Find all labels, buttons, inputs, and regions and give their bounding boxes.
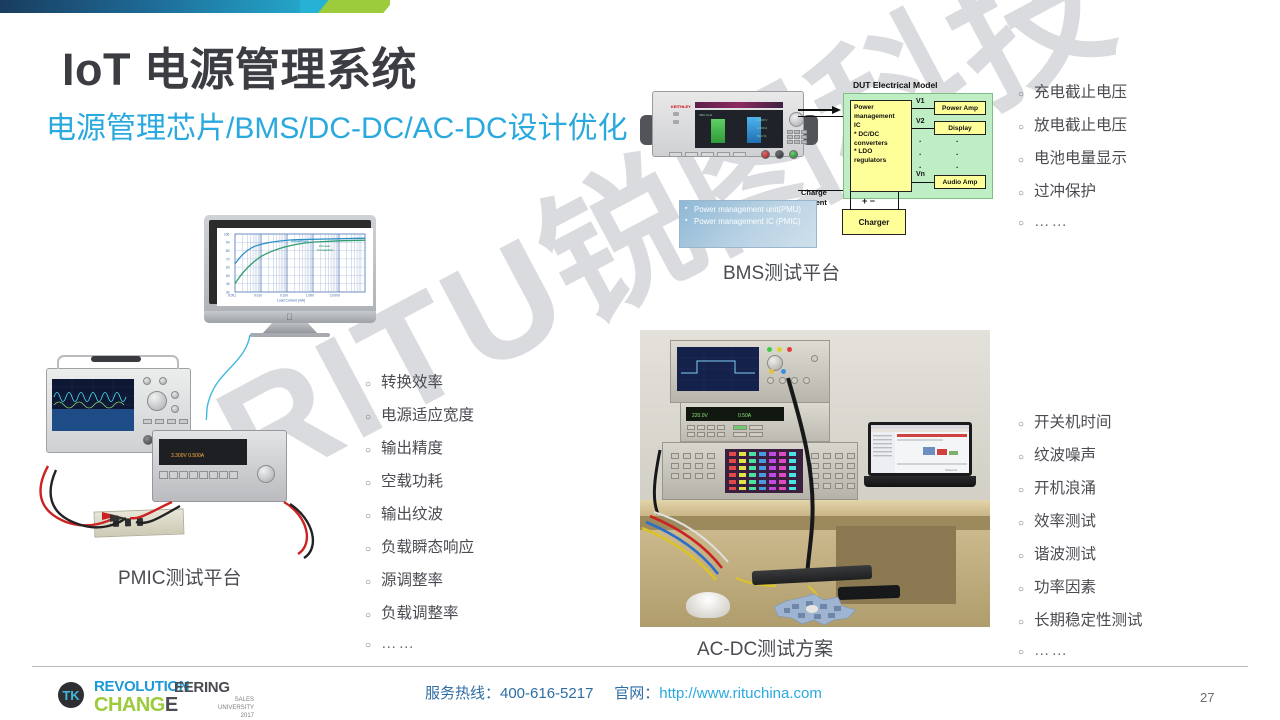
- list-item: ○ 功率因素: [1018, 575, 1143, 597]
- charger-block: Charger: [842, 209, 906, 235]
- acdc-lab-photo: 220.0V 0.50A: [640, 330, 990, 627]
- load-block-audio-amp: Audio Amp: [934, 175, 986, 189]
- logo-change-text: CHANG: [94, 694, 165, 716]
- list-item-label: 纹波噪声: [1034, 443, 1096, 465]
- footer-hotline: 服务热线：400-616-5217: [425, 685, 593, 702]
- acdc-caption: AC-DC测试方案: [697, 634, 833, 661]
- scope-knob-4[interactable]: [171, 405, 179, 413]
- bullet-circle-icon: ○: [365, 634, 381, 651]
- footer-contact: 服务热线：400-616-5217 官网：http://www.rituchin…: [425, 682, 822, 703]
- input-wire-top: [798, 116, 843, 117]
- list-item-label: 负载瞬态响应: [381, 535, 474, 557]
- logo-small-line-3: 2017: [218, 712, 254, 720]
- bullet-circle-icon: ○: [1018, 611, 1034, 628]
- bullet-circle-icon: ○: [365, 472, 381, 489]
- load-block-display: Display: [934, 121, 986, 135]
- bullet-circle-icon: ○: [365, 571, 381, 588]
- list-item-label: 空载功耗: [381, 469, 443, 491]
- list-item-label: 过冲保护: [1034, 179, 1096, 201]
- scope-waveform: [52, 379, 134, 413]
- list-item: ○ 长期稳定性测试: [1018, 608, 1143, 630]
- bullet-circle-icon: ○: [1018, 545, 1034, 562]
- logo-mark-icon: TK: [58, 682, 84, 708]
- list-item-label: 转换效率: [381, 370, 443, 392]
- svg-text:40: 40: [226, 282, 230, 286]
- pmic-line-3: IC: [854, 122, 908, 131]
- list-item-label: ……: [1034, 213, 1069, 231]
- callout-bullet-icon: ▪: [685, 217, 694, 227]
- output-label-v1: V1: [916, 98, 925, 105]
- list-item-label: ……: [381, 635, 416, 653]
- scope-knob-3[interactable]: [171, 391, 179, 399]
- callout-text-1: Power management unit(PMU): [694, 205, 801, 215]
- power-management-ic-block: Power management IC * DC/DC converters *…: [850, 100, 912, 192]
- photo-cabling: [640, 330, 990, 627]
- page-subtitle: 电源管理芯片/BMS/DC-DC/AC-DC设计优化: [46, 103, 628, 147]
- list-item: ○ 电源适应宽度: [365, 403, 474, 425]
- svg-text:10.000: 10.000: [330, 294, 340, 298]
- footer-divider: [32, 666, 1248, 667]
- svg-text:50: 50: [226, 274, 230, 278]
- acdc-spec-list: ○ 开关机时间 ○ 纹波噪声 ○ 开机浪涌 ○ 效率测试 ○ 谐波测试 ○ 功率…: [1018, 410, 1143, 671]
- list-item: ○ 源调整率: [365, 568, 474, 590]
- svg-text:0.010: 0.010: [254, 294, 262, 298]
- pmic-line-2: management: [854, 113, 908, 122]
- output-label-v2: V2: [916, 118, 925, 125]
- svg-text:1.000: 1.000: [306, 294, 314, 298]
- bullet-circle-icon: ○: [1018, 578, 1034, 595]
- svg-text:100: 100: [224, 233, 230, 237]
- list-item-label: 开关机时间: [1034, 410, 1112, 432]
- callout-item-1: ▪ Power management unit(PMU): [685, 205, 811, 215]
- scope-button-2[interactable]: [155, 419, 164, 424]
- svg-text:90: 90: [226, 241, 230, 245]
- list-item-label: 负载调整率: [381, 601, 459, 623]
- list-item-label: 输出精度: [381, 436, 443, 458]
- list-item-label: 源调整率: [381, 568, 443, 590]
- vertical-dots-right: ...: [956, 134, 958, 172]
- bullet-circle-icon: ○: [1018, 116, 1034, 133]
- bullet-circle-icon: ○: [365, 373, 381, 390]
- svg-text:60: 60: [226, 266, 230, 270]
- efficiency-chart: 1009080 706050 4030 0.0010.010 0.1001.00…: [217, 228, 373, 306]
- vertical-dots-left: ...: [919, 134, 921, 172]
- test-cables: [22, 458, 352, 578]
- list-item: ○ ……: [1018, 212, 1127, 231]
- list-item-label: 功率因素: [1034, 575, 1096, 597]
- list-item-label: 效率测试: [1034, 509, 1096, 531]
- dut-model-title: DUT Electrical Model: [853, 80, 938, 90]
- page-title: IoT 电源管理系统: [62, 33, 417, 98]
- page-number: 27: [1200, 690, 1214, 705]
- list-item-label: 电池电量显示: [1034, 146, 1127, 168]
- photo-led-pcb: [768, 592, 860, 626]
- slide-root: RITU锐图科技 IoT 电源管理系统 电源管理芯片/BMS/DC-DC/AC-…: [0, 0, 1280, 720]
- scope-handle-grip: [91, 356, 141, 362]
- callout-item-2: ▪ Power management IC (PMIC): [685, 217, 811, 227]
- monitor-with-chart: 1009080 706050 4030 0.0010.010 0.1001.00…: [204, 215, 376, 340]
- list-item: ○ 过冲保护: [1018, 179, 1127, 201]
- list-item: ○ 负载瞬态响应: [365, 535, 474, 557]
- bullet-circle-icon: ○: [1018, 212, 1034, 229]
- list-item: ○ 效率测试: [1018, 509, 1143, 531]
- scope-knob-1[interactable]: [143, 377, 151, 385]
- footer-website-label: 官网：: [614, 685, 659, 702]
- bullet-circle-icon: ○: [1018, 479, 1034, 496]
- list-item: ○ 开机浪涌: [1018, 476, 1143, 498]
- svg-text:0.001: 0.001: [228, 294, 236, 298]
- bullet-circle-icon: ○: [365, 439, 381, 456]
- pmu-pmic-callout: ▪ Power management unit(PMU) ▪ Power man…: [679, 200, 817, 248]
- list-item: ○ ……: [1018, 641, 1143, 660]
- list-item-label: 电源适应宽度: [381, 403, 474, 425]
- svg-text:70: 70: [226, 257, 230, 261]
- pmic-line-4: * DC/DC: [854, 131, 908, 140]
- callout-bullet-icon: ▪: [685, 205, 694, 215]
- bullet-circle-icon: ○: [365, 604, 381, 621]
- logo-line2: CHANGE: [94, 694, 178, 717]
- input-arrow-icon: [798, 105, 842, 114]
- list-item-label: 开机浪涌: [1034, 476, 1096, 498]
- bullet-circle-icon: ○: [1018, 641, 1034, 658]
- bullet-circle-icon: ○: [1018, 83, 1034, 100]
- topbar-blue-segment: [0, 0, 334, 13]
- logo-small-line-2: UNIVERSITY: [218, 704, 254, 712]
- list-item: ○ 充电截止电压: [1018, 80, 1127, 102]
- logo-change-e: E: [165, 694, 178, 716]
- charger-wire-right: [898, 192, 899, 209]
- pmic-caption: PMIC测试平台: [118, 563, 242, 590]
- bullet-circle-icon: ○: [1018, 149, 1034, 166]
- callout-text-2: Power management IC (PMIC): [694, 217, 801, 227]
- bullet-circle-icon: ○: [365, 538, 381, 555]
- apple-logo-icon: : [286, 313, 294, 322]
- svg-text:Load Current (mA): Load Current (mA): [277, 299, 305, 303]
- pmic-line-6: * LDO: [854, 148, 908, 157]
- pmic-line-1: Power: [854, 104, 908, 113]
- list-item-label: 放电截止电压: [1034, 113, 1127, 135]
- topbar-green-segment: [318, 0, 390, 13]
- list-item: ○ 转换效率: [365, 370, 474, 392]
- polarity-label: + −: [862, 196, 875, 206]
- pmic-line-5: converters: [854, 140, 908, 149]
- list-item: ○ 谐波测试: [1018, 542, 1143, 564]
- photo-led-lamp: [686, 592, 730, 618]
- pmic-spec-list: ○ 转换效率 ○ 电源适应宽度 ○ 输出精度 ○ 空载功耗 ○ 输出纹波 ○ 负…: [365, 370, 474, 664]
- wire-v2: [912, 128, 936, 129]
- logo-line1-eering: EERING: [174, 679, 230, 696]
- list-item: ○ 放电截止电压: [1018, 113, 1127, 135]
- list-item: ○ 电池电量显示: [1018, 146, 1127, 168]
- list-item: ○ 纹波噪声: [1018, 443, 1143, 465]
- scope-knob-2[interactable]: [159, 377, 167, 385]
- bullet-circle-icon: ○: [1018, 182, 1034, 199]
- list-item: ○ 输出纹波: [365, 502, 474, 524]
- logo-sales-university: SALES UNIVERSITY 2017: [218, 696, 254, 720]
- scope-menu-panel[interactable]: [52, 409, 134, 431]
- footer-website-link[interactable]: http://www.rituchina.com: [659, 685, 822, 702]
- list-item: ○ ……: [365, 634, 474, 653]
- logo-small-line-1: SALES: [218, 696, 254, 704]
- scope-button-1[interactable]: [143, 419, 152, 424]
- bullet-circle-icon: ○: [1018, 446, 1034, 463]
- wire-v1: [912, 108, 936, 109]
- list-item: ○ 输出精度: [365, 436, 474, 458]
- pmic-test-bench: 3.300V 0.500A TEXAS INST: [22, 338, 352, 588]
- list-item-label: 长期稳定性测试: [1034, 608, 1143, 630]
- list-item-label: ……: [1034, 642, 1069, 660]
- svg-text:Actual/Ours: Actual/Ours: [291, 239, 309, 243]
- chart-svg: 1009080 706050 4030 0.0010.010 0.1001.00…: [217, 228, 373, 306]
- svg-text:0.100: 0.100: [280, 294, 288, 298]
- charger-wire-left: [850, 192, 851, 209]
- svg-text:Competitor: Competitor: [317, 248, 334, 252]
- top-decoration-bar: [0, 0, 390, 13]
- photo-pcb-shape: [768, 592, 860, 626]
- list-item-label: 谐波测试: [1034, 542, 1096, 564]
- bullet-circle-icon: ○: [365, 406, 381, 423]
- monitor-bezel: 1009080 706050 4030 0.0010.010 0.1001.00…: [204, 215, 376, 316]
- company-logo: TK REVOLUTION EERING CHANGE SALES UNIVER…: [58, 676, 298, 714]
- bullet-circle-icon: ○: [365, 505, 381, 522]
- monitor-screen: 1009080 706050 4030 0.0010.010 0.1001.00…: [209, 220, 371, 304]
- pmic-line-7: regulators: [854, 157, 908, 166]
- scope-button-3[interactable]: [167, 419, 176, 424]
- bullet-circle-icon: ○: [1018, 512, 1034, 529]
- scope-main-knob[interactable]: [147, 391, 167, 411]
- bms-caption: BMS测试平台: [723, 258, 840, 285]
- wire-vn: [912, 182, 936, 183]
- list-item-label: 输出纹波: [381, 502, 443, 524]
- svg-text:80: 80: [226, 249, 230, 253]
- list-item-label: 充电截止电压: [1034, 80, 1127, 102]
- scope-button-4[interactable]: [179, 419, 188, 424]
- list-item: ○ 负载调整率: [365, 601, 474, 623]
- list-item: ○ 开关机时间: [1018, 410, 1143, 432]
- bms-spec-list: ○ 充电截止电压 ○ 放电截止电压 ○ 电池电量显示 ○ 过冲保护 ○ ……: [1018, 80, 1127, 242]
- load-block-power-amp: Power Amp: [934, 101, 986, 115]
- logo-mark-text: TK: [62, 688, 79, 703]
- list-item: ○ 空载功耗: [365, 469, 474, 491]
- bullet-circle-icon: ○: [1018, 413, 1034, 430]
- charge-current-line-1: Charge: [801, 188, 827, 198]
